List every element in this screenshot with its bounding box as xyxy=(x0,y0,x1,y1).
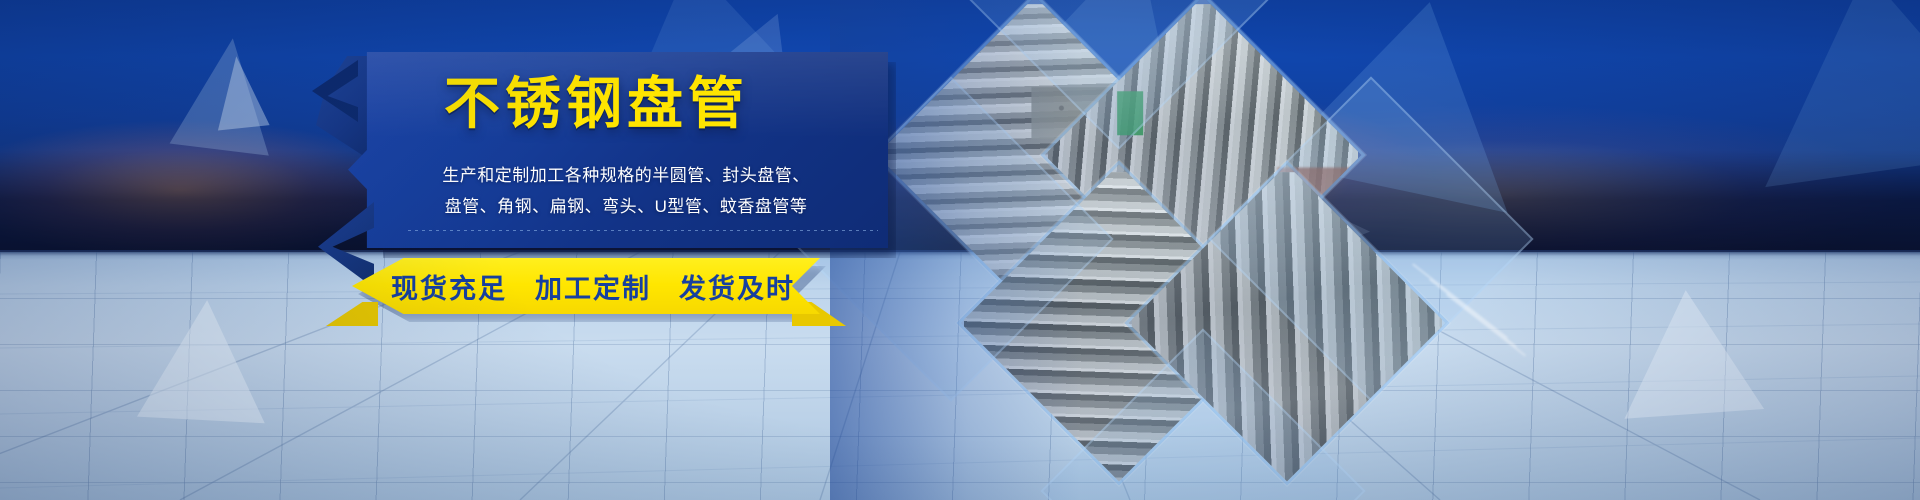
banner-vignette xyxy=(0,0,1920,500)
product-hero-banner: 不锈钢盘管 生产和定制加工各种规格的半圆管、封头盘管、 盘管、角钢、扁钢、弯头、… xyxy=(0,0,1920,500)
